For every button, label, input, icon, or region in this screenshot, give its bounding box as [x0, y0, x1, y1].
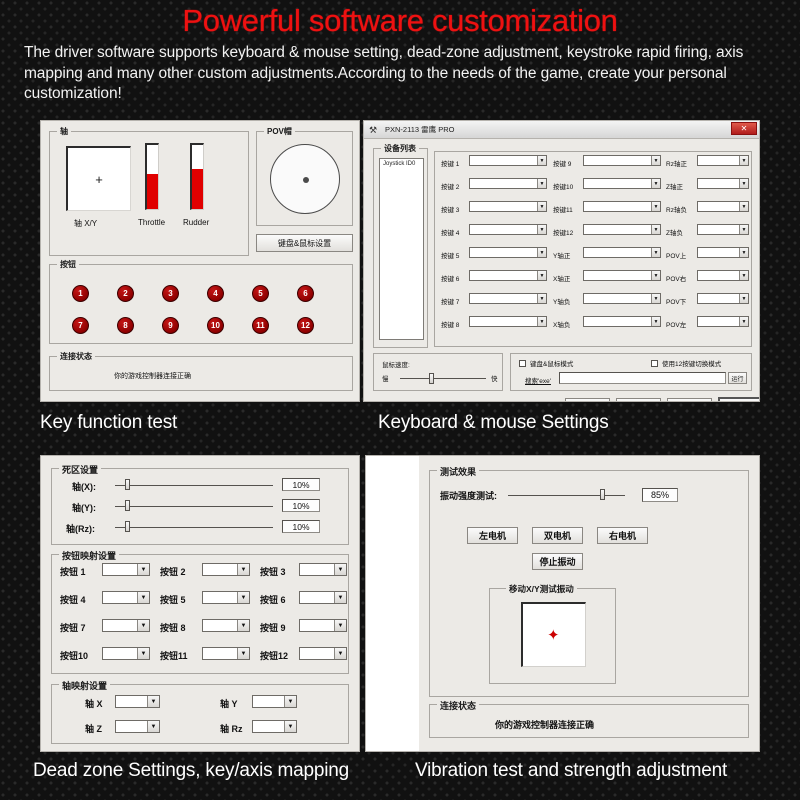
btnmap-label-10: 按钮10: [60, 649, 88, 662]
chevron-down-icon[interactable]: ▼: [739, 248, 748, 257]
axis-map-legend: 轴映射设置: [59, 679, 110, 692]
btnmap-label-12: 按钮12: [260, 649, 288, 662]
deadzone-value-x[interactable]: 10%: [282, 478, 320, 491]
app-icon: ⚒: [369, 124, 381, 136]
chevron-down-icon[interactable]: ▼: [651, 179, 660, 188]
vibration-value-text: 85%: [651, 490, 669, 500]
map-combo-c3-r8[interactable]: ▼: [697, 316, 749, 327]
map-combo-c1-r6[interactable]: ▼: [469, 270, 547, 281]
axismap-label-rz: 轴 Rz: [220, 722, 243, 735]
chevron-down-icon[interactable]: ▼: [237, 648, 249, 659]
btnmap-label-3: 按钮 3: [260, 565, 286, 578]
btnmap-combo-1[interactable]: ▼: [102, 563, 150, 576]
map-label-c3-r2: Z轴正: [666, 181, 683, 191]
btnmap-combo-3[interactable]: ▼: [299, 563, 347, 576]
map-combo-c2-r1[interactable]: ▼: [583, 155, 661, 166]
device-listbox[interactable]: Joystick ID0: [379, 158, 424, 340]
caption-keyboard-mouse: Keyboard & mouse Settings: [378, 412, 609, 434]
chevron-down-icon[interactable]: ▼: [739, 317, 748, 326]
chevron-down-icon[interactable]: ▼: [651, 294, 660, 303]
vibration-strength-label: 振动强度测试:: [440, 489, 497, 502]
map-label-c3-r5: POV上: [666, 250, 686, 260]
chevron-down-icon[interactable]: ▼: [334, 592, 346, 603]
map-combo-c3-r1[interactable]: ▼: [697, 155, 749, 166]
caption-dead-zone: Dead zone Settings, key/axis mapping: [33, 760, 349, 782]
deadzone-value-y-text: 10%: [292, 501, 309, 511]
pad-button-2[interactable]: 2: [117, 285, 134, 302]
mouse-speed-thumb[interactable]: [429, 373, 434, 384]
panel-key-function-test: 轴 + 轴 X/Y Throttle Rudder POV帽: [40, 120, 360, 402]
btnmap-combo-11[interactable]: ▼: [202, 647, 250, 660]
map-label-c2-r6: X轴正: [553, 273, 570, 283]
map-label-c1-r8: 按键 8: [441, 319, 459, 329]
btnmap-combo-5[interactable]: ▼: [202, 591, 250, 604]
app-window-kbm: ⚒ PXN-2113 雷鹰 PRO ✕ 设备列表 Joystick ID0 按键…: [363, 120, 760, 402]
deadzone-value-rz[interactable]: 10%: [282, 520, 320, 533]
map-combo-c1-r7[interactable]: ▼: [469, 293, 547, 304]
switch-mode-label: 使用12按键切换模式: [662, 358, 721, 368]
connection-status-legend: 连接状态: [57, 351, 95, 362]
map-label-c1-r4: 按键 4: [441, 227, 459, 237]
chevron-down-icon[interactable]: ▼: [237, 564, 249, 575]
chevron-down-icon[interactable]: ▼: [237, 592, 249, 603]
mapping-group: 按键 1 ▼ 按键 2 ▼ 按键 3 ▼ 按键 4 ▼ 按键 5 ▼ 按键 6 …: [434, 151, 752, 347]
chevron-down-icon[interactable]: ▼: [739, 179, 748, 188]
pad-button-7[interactable]: 7: [72, 317, 89, 334]
chevron-down-icon[interactable]: ▼: [147, 696, 159, 707]
deadzone-track-y[interactable]: [115, 506, 273, 507]
throttle-label: Throttle: [138, 218, 165, 227]
vibration-status-text: 你的游戏控制器连接正确: [495, 718, 594, 731]
btnmap-label-8: 按钮 8: [160, 621, 186, 634]
deadzone-track-rz[interactable]: [115, 527, 273, 528]
caption-vibration-test: Vibration test and strength adjustment: [415, 760, 727, 782]
deadzone-legend: 死区设置: [59, 463, 101, 476]
run-button[interactable]: 运行: [728, 372, 747, 384]
chevron-down-icon[interactable]: ▼: [739, 202, 748, 211]
mouse-speed-slow-label: 慢: [382, 373, 389, 383]
chevron-down-icon[interactable]: ▼: [651, 156, 660, 165]
pad-button-12[interactable]: 12: [297, 317, 314, 334]
chevron-down-icon[interactable]: ▼: [537, 202, 546, 211]
axismap-label-y: 轴 Y: [220, 697, 238, 710]
pad-button-1[interactable]: 1: [72, 285, 89, 302]
map-label-c3-r8: POV左: [666, 319, 686, 329]
chevron-down-icon[interactable]: ▼: [537, 248, 546, 257]
map-combo-c1-r4[interactable]: ▼: [469, 224, 547, 235]
mode-options-group: 键盘&鼠标模式 使用12按键切换模式 搜索'exe' 运行: [510, 353, 752, 391]
pad-button-9[interactable]: 9: [162, 317, 179, 334]
map-combo-c3-r6[interactable]: ▼: [697, 270, 749, 281]
pov-group: POV帽: [256, 131, 353, 226]
map-combo-c1-r8[interactable]: ▼: [469, 316, 547, 327]
map-combo-c3-r4[interactable]: ▼: [697, 224, 749, 235]
right-motor-button[interactable]: 右电机: [597, 527, 648, 544]
crosshair-icon: +: [95, 172, 103, 187]
header: Powerful software customization The driv…: [0, 0, 800, 105]
chevron-down-icon[interactable]: ▼: [537, 179, 546, 188]
deadzone-thumb-x[interactable]: [125, 479, 130, 490]
axismap-combo-y[interactable]: ▼: [252, 695, 297, 708]
map-combo-c3-r3[interactable]: ▼: [697, 201, 749, 212]
btnmap-combo-10[interactable]: ▼: [102, 647, 150, 660]
dual-motor-button[interactable]: 双电机: [532, 527, 583, 544]
left-motor-button[interactable]: 左电机: [467, 527, 518, 544]
btnmap-label-9: 按钮 9: [260, 621, 286, 634]
search-exe-input[interactable]: [559, 372, 726, 384]
map-label-c2-r8: X轴负: [553, 319, 570, 329]
app-window-deadzone: 死区设置 轴(X): 10% 轴(Y): 10% 轴(Rz):: [40, 455, 360, 752]
close-icon[interactable]: ✕: [731, 122, 757, 135]
stop-vibration-button[interactable]: 停止振动: [532, 553, 583, 570]
device-list-item[interactable]: Joystick ID0: [383, 161, 420, 167]
button-map-legend: 按钮映射设置: [59, 549, 119, 562]
btnmap-combo-2[interactable]: ▼: [202, 563, 250, 576]
map-combo-c3-r2[interactable]: ▼: [697, 178, 749, 189]
map-label-c3-r3: Rz轴负: [666, 204, 687, 214]
deadzone-track-x[interactable]: [115, 485, 273, 486]
chevron-down-icon[interactable]: ▼: [334, 620, 346, 631]
axismap-label-x: 轴 X: [85, 697, 103, 710]
chevron-down-icon[interactable]: ▼: [334, 564, 346, 575]
vibration-status-legend: 连接状态: [437, 699, 479, 712]
btnmap-label-6: 按钮 6: [260, 593, 286, 606]
mouse-speed-fast-label: 快: [491, 373, 498, 383]
chevron-down-icon[interactable]: ▼: [147, 721, 159, 732]
deadzone-label-y: 轴(Y):: [72, 501, 96, 514]
vibration-value-box[interactable]: 85%: [642, 488, 678, 502]
button-map-group: 按钮映射设置 按钮 1 ▼ 按钮 2 ▼ 按钮 3 ▼ 按钮 4 ▼ 按钮 5 …: [51, 554, 349, 674]
pov-group-legend: POV帽: [264, 126, 295, 137]
btnmap-combo-7[interactable]: ▼: [102, 619, 150, 632]
switch-mode-checkbox[interactable]: [651, 360, 658, 367]
chevron-down-icon[interactable]: ▼: [137, 620, 149, 631]
chevron-down-icon[interactable]: ▼: [537, 225, 546, 234]
axis-group-legend: 轴: [57, 126, 71, 137]
pad-button-6[interactable]: 6: [297, 285, 314, 302]
btnmap-label-7: 按钮 7: [60, 621, 86, 634]
deadzone-thumb-rz[interactable]: [125, 521, 130, 532]
chevron-down-icon[interactable]: ▼: [537, 317, 546, 326]
xy-vibration-legend: 移动X/Y测试振动: [506, 583, 577, 595]
ok-button[interactable]: 确定: [718, 397, 760, 402]
map-label-c1-r5: 按键 5: [441, 250, 459, 260]
map-label-c2-r5: Y轴正: [553, 250, 570, 260]
map-combo-c2-r6[interactable]: ▼: [583, 270, 661, 281]
chevron-down-icon[interactable]: ▼: [334, 648, 346, 659]
chevron-down-icon[interactable]: ▼: [537, 156, 546, 165]
xy-cursor-icon: ✦: [547, 628, 560, 643]
chevron-down-icon[interactable]: ▼: [651, 248, 660, 257]
xy-vibration-group: 移动X/Y测试振动 ✦: [489, 588, 616, 684]
btnmap-combo-6[interactable]: ▼: [299, 591, 347, 604]
axismap-combo-z[interactable]: ▼: [115, 720, 160, 733]
btnmap-label-5: 按钮 5: [160, 593, 186, 606]
axis-map-group: 轴映射设置 轴 X ▼ 轴 Y ▼ 轴 Z ▼ 轴 Rz ▼: [51, 684, 349, 744]
map-label-c1-r6: 按键 6: [441, 273, 459, 283]
kbm-mode-checkbox[interactable]: [519, 360, 526, 367]
chevron-down-icon[interactable]: ▼: [537, 271, 546, 280]
map-combo-c3-r7[interactable]: ▼: [697, 293, 749, 304]
axis-xy-plot[interactable]: +: [66, 146, 131, 211]
xy-test-pad[interactable]: ✦: [521, 602, 586, 667]
kbm-mode-label: 键盘&鼠标模式: [530, 358, 573, 368]
map-combo-c1-r2[interactable]: ▼: [469, 178, 547, 189]
page-title: Powerful software customization: [14, 4, 786, 38]
test-effect-group: 测试效果 振动强度测试: 85% 左电机 双电机 右电机 停止振动 移动X/Y测…: [429, 470, 749, 697]
map-combo-c1-r1[interactable]: ▼: [469, 155, 547, 166]
panel-dead-zone-settings: 死区设置 轴(X): 10% 轴(Y): 10% 轴(Rz):: [40, 455, 360, 752]
screenshot-grid: 轴 + 轴 X/Y Throttle Rudder POV帽: [0, 120, 800, 800]
vibration-track[interactable]: [508, 495, 625, 496]
connection-status-group: 连接状态 你的游戏控制器连接正确: [49, 356, 353, 391]
save-button[interactable]: 保存: [616, 398, 661, 402]
chevron-down-icon[interactable]: ▼: [651, 225, 660, 234]
map-label-c2-r1: 按键 9: [553, 158, 571, 168]
btnmap-label-2: 按钮 2: [160, 565, 186, 578]
deadzone-value-rz-text: 10%: [292, 522, 309, 532]
app-window-key-test: 轴 + 轴 X/Y Throttle Rudder POV帽: [40, 120, 360, 402]
rudder-label: Rudder: [183, 218, 209, 227]
buttons-group-legend: 按钮: [57, 259, 79, 270]
map-label-c2-r2: 按键10: [553, 181, 573, 191]
map-label-c2-r3: 按键11: [553, 204, 573, 214]
map-combo-c2-r8[interactable]: ▼: [583, 316, 661, 327]
map-combo-c2-r3[interactable]: ▼: [583, 201, 661, 212]
map-label-c1-r2: 按键 2: [441, 181, 459, 191]
pov-hat-dot: [303, 177, 309, 183]
deadzone-value-y[interactable]: 10%: [282, 499, 320, 512]
chevron-down-icon[interactable]: ▼: [739, 156, 748, 165]
chevron-down-icon[interactable]: ▼: [739, 271, 748, 280]
axis-xy-label: 轴 X/Y: [74, 218, 97, 229]
deadzone-value-x-text: 10%: [292, 480, 309, 490]
btnmap-combo-12[interactable]: ▼: [299, 647, 347, 660]
map-label-c1-r7: 按键 7: [441, 296, 459, 306]
btnmap-combo-4[interactable]: ▼: [102, 591, 150, 604]
vibration-thumb[interactable]: [600, 489, 605, 500]
map-combo-c2-r4[interactable]: ▼: [583, 224, 661, 235]
chevron-down-icon[interactable]: ▼: [137, 648, 149, 659]
throttle-bar[interactable]: [145, 143, 159, 210]
map-combo-c2-r5[interactable]: ▼: [583, 247, 661, 258]
chevron-down-icon[interactable]: ▼: [651, 317, 660, 326]
chevron-down-icon[interactable]: ▼: [137, 564, 149, 575]
vibration-content-area: 测试效果 振动强度测试: 85% 左电机 双电机 右电机 停止振动 移动X/Y测…: [419, 456, 760, 751]
pad-button-8[interactable]: 8: [117, 317, 134, 334]
connection-status-text: 你的游戏控制器连接正确: [114, 371, 191, 381]
axismap-label-z: 轴 Z: [85, 722, 102, 735]
chevron-down-icon[interactable]: ▼: [739, 294, 748, 303]
deadzone-label-rz: 轴(Rz):: [66, 522, 95, 535]
chevron-down-icon[interactable]: ▼: [651, 271, 660, 280]
map-combo-c1-r3[interactable]: ▼: [469, 201, 547, 212]
pad-button-11[interactable]: 11: [252, 317, 269, 334]
panel-vibration-test: 测试效果 振动强度测试: 85% 左电机 双电机 右电机 停止振动 移动X/Y测…: [365, 455, 760, 752]
test-effect-legend: 测试效果: [437, 465, 479, 478]
pov-hat-circle[interactable]: [270, 144, 340, 214]
mouse-speed-group: 鼠标速度: 慢 快: [373, 353, 503, 391]
chevron-down-icon[interactable]: ▼: [537, 294, 546, 303]
map-combo-c2-r2[interactable]: ▼: [583, 178, 661, 189]
chevron-down-icon[interactable]: ▼: [284, 721, 296, 732]
axis-group: 轴 + 轴 X/Y Throttle Rudder: [49, 131, 249, 256]
map-label-c3-r1: Rz轴正: [666, 158, 687, 168]
pad-button-5[interactable]: 5: [252, 285, 269, 302]
deadzone-label-x: 轴(X):: [72, 480, 96, 493]
panel-keyboard-mouse-settings: ⚒ PXN-2113 雷鹰 PRO ✕ 设备列表 Joystick ID0 按键…: [363, 120, 760, 402]
deadzone-thumb-y[interactable]: [125, 500, 130, 511]
chevron-down-icon[interactable]: ▼: [284, 696, 296, 707]
rudder-fill: [192, 169, 203, 209]
device-list-legend: 设备列表: [381, 143, 419, 154]
pad-button-10[interactable]: 10: [207, 317, 224, 334]
pad-button-4[interactable]: 4: [207, 285, 224, 302]
chevron-down-icon[interactable]: ▼: [651, 202, 660, 211]
window-title-bar: ⚒ PXN-2113 雷鹰 PRO ✕: [364, 121, 759, 139]
btnmap-label-11: 按钮11: [160, 649, 188, 662]
map-label-c3-r4: Z轴负: [666, 227, 683, 237]
chevron-down-icon[interactable]: ▼: [237, 620, 249, 631]
axismap-combo-rz[interactable]: ▼: [252, 720, 297, 733]
throttle-fill: [147, 174, 158, 209]
map-combo-c2-r7[interactable]: ▼: [583, 293, 661, 304]
btnmap-combo-8[interactable]: ▼: [202, 619, 250, 632]
default-button[interactable]: 默认: [667, 398, 712, 402]
axismap-combo-x[interactable]: ▼: [115, 695, 160, 708]
deadzone-group: 死区设置 轴(X): 10% 轴(Y): 10% 轴(Rz):: [51, 468, 349, 545]
map-label-c2-r4: 按键12: [553, 227, 573, 237]
chevron-down-icon[interactable]: ▼: [137, 592, 149, 603]
buttons-group: 按钮 1 2 3 4 5 6 7 8 9 10 11 12: [49, 264, 353, 344]
map-label-c1-r1: 按键 1: [441, 158, 459, 168]
btnmap-label-4: 按钮 4: [60, 593, 86, 606]
app-window-vibration: 测试效果 振动强度测试: 85% 左电机 双电机 右电机 停止振动 移动X/Y测…: [365, 455, 760, 752]
page-description: The driver software supports keyboard & …: [14, 38, 786, 105]
load-button[interactable]: 加载: [565, 398, 610, 402]
btnmap-combo-9[interactable]: ▼: [299, 619, 347, 632]
pad-button-3[interactable]: 3: [162, 285, 179, 302]
caption-key-function-test: Key function test: [40, 412, 177, 434]
chevron-down-icon[interactable]: ▼: [739, 225, 748, 234]
window-title: PXN-2113 雷鹰 PRO: [385, 124, 454, 135]
map-label-c2-r7: Y轴负: [553, 296, 570, 306]
map-combo-c3-r5[interactable]: ▼: [697, 247, 749, 258]
device-list-group: 设备列表 Joystick ID0: [373, 148, 428, 348]
rudder-bar[interactable]: [190, 143, 204, 210]
map-label-c3-r6: POV右: [666, 273, 686, 283]
btnmap-label-1: 按钮 1: [60, 565, 86, 578]
mouse-speed-track[interactable]: [400, 378, 486, 379]
map-label-c1-r3: 按键 3: [441, 204, 459, 214]
mouse-speed-label: 鼠标速度:: [382, 359, 410, 369]
vibration-status-group: 连接状态 你的游戏控制器连接正确: [429, 704, 749, 738]
map-combo-c1-r5[interactable]: ▼: [469, 247, 547, 258]
map-label-c3-r7: POV下: [666, 296, 686, 306]
search-exe-label: 搜索'exe': [525, 375, 551, 385]
kbm-settings-button[interactable]: 键盘&鼠标设置: [256, 234, 353, 252]
